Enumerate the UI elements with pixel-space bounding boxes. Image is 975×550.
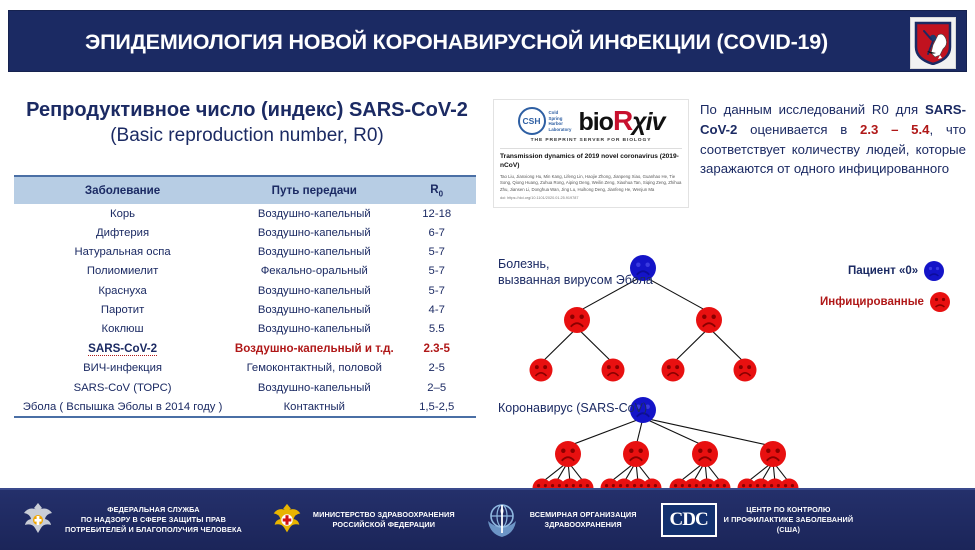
corona-level1-infected-1 bbox=[623, 441, 649, 467]
cell-r0: 5-7 bbox=[397, 243, 476, 262]
cell-route: Воздушно-капельный bbox=[231, 378, 397, 397]
cell-route: Воздушно-капельный bbox=[231, 319, 397, 338]
cell-route: Воздушно-капельный bbox=[231, 281, 397, 300]
minzdrav-eagle-icon bbox=[268, 500, 306, 540]
biorxiv-wordmark: bioRχiv bbox=[578, 107, 664, 135]
cell-r0: 6-7 bbox=[397, 224, 476, 243]
cell-r0: 1,5-2,5 bbox=[397, 397, 476, 417]
slide-footer: ФЕДЕРАЛЬНАЯ СЛУЖБАПО НАДЗОРУ В СФЕРЕ ЗАЩ… bbox=[0, 488, 975, 550]
r0-table: Заболевание Путь передачи R0 КорьВоздушн… bbox=[14, 175, 476, 418]
cell-route: Контактный bbox=[231, 397, 397, 417]
ebola-level2-infected-3 bbox=[734, 359, 757, 382]
cell-disease: Полиомиелит bbox=[14, 262, 231, 281]
cell-r0: 2-5 bbox=[397, 359, 476, 378]
ebola-level1-infected-0 bbox=[564, 307, 590, 333]
rtext-part2: оценивается в bbox=[737, 122, 860, 137]
table-row: ВИЧ-инфекцияГемоконтактный, половой2-5 bbox=[14, 359, 476, 378]
org-minzdrav: МИНИСТЕРСТВО ЗДРАВООХРАНЕНИЯРОССИЙСКОЙ Ф… bbox=[268, 500, 455, 540]
table-row: ПаротитВоздушно-капельный4-7 bbox=[14, 300, 476, 319]
moscow-coat-of-arms-icon bbox=[910, 17, 956, 69]
paper-title: Transmission dynamics of 2019 novel coro… bbox=[500, 153, 682, 170]
cell-route: Гемоконтактный, половой bbox=[231, 359, 397, 378]
cell-route: Воздушно-капельный bbox=[231, 243, 397, 262]
column-header-r0: R0 bbox=[397, 176, 476, 204]
cell-r0: 12-18 bbox=[397, 204, 476, 223]
org-cdc: CDC ЦЕНТР ПО КОНТРОЛЮИ ПРОФИЛАКТИКЕ ЗАБО… bbox=[661, 503, 854, 537]
ebola-level2-infected-0 bbox=[530, 359, 553, 382]
infected-face-icon bbox=[929, 291, 951, 313]
ebola-level1-infected-1 bbox=[696, 307, 722, 333]
legend-patient-zero-label: Пациент «0» bbox=[848, 265, 918, 277]
cell-route: Воздушно-капельный bbox=[231, 300, 397, 319]
cell-r0: 5.5 bbox=[397, 319, 476, 338]
slide-header: ЭПИДЕМИОЛОГИЯ НОВОЙ КОРОНАВИРУСНОЙ ИНФЕК… bbox=[8, 10, 967, 72]
legend-patient-zero: Пациент «0» bbox=[848, 260, 945, 282]
rtext-red-range: 2.3 – 5.4 bbox=[860, 122, 929, 137]
org-minzdrav-label: МИНИСТЕРСТВО ЗДРАВООХРАНЕНИЯРОССИЙСКОЙ Ф… bbox=[313, 510, 455, 530]
cell-route: Фекально-оральный bbox=[231, 262, 397, 281]
slide-root: ЭПИДЕМИОЛОГИЯ НОВОЙ КОРОНАВИРУСНОЙ ИНФЕК… bbox=[0, 0, 975, 550]
cell-disease: SARS-CoV-2 bbox=[14, 339, 231, 359]
cdc-logo-icon: CDC bbox=[661, 503, 717, 537]
page-title: ЭПИДЕМИОЛОГИЯ НОВОЙ КОРОНАВИРУСНОЙ ИНФЕК… bbox=[9, 11, 904, 73]
left-title-line1: Репродуктивное число (индекс) SARS-CoV-2 bbox=[8, 98, 486, 122]
org-rospotrebnadzor: ФЕДЕРАЛЬНАЯ СЛУЖБАПО НАДЗОРУ В СФЕРЕ ЗАЩ… bbox=[18, 499, 242, 541]
legend-infected: Инфицированные bbox=[820, 291, 951, 313]
cell-disease: ВИЧ-инфекция bbox=[14, 359, 231, 378]
cell-disease: SARS-CoV (ТОРС) bbox=[14, 378, 231, 397]
table-header: Заболевание Путь передачи R0 bbox=[14, 176, 476, 204]
table-row: КорьВоздушно-капельный12-18 bbox=[14, 204, 476, 223]
org-cdc-label: ЦЕНТР ПО КОНТРОЛЮИ ПРОФИЛАКТИКЕ ЗАБОЛЕВА… bbox=[724, 505, 854, 535]
paper-authors: Tao Liu, Jianxiong Hu, Min Kang, Lifeng … bbox=[500, 174, 682, 193]
cell-disease: Дифтерия bbox=[14, 224, 231, 243]
column-header-disease: Заболевание bbox=[14, 176, 231, 204]
org-rospotrebnadzor-label: ФЕДЕРАЛЬНАЯ СЛУЖБАПО НАДЗОРУ В СФЕРЕ ЗАЩ… bbox=[65, 505, 242, 535]
cell-disease: Корь bbox=[14, 204, 231, 223]
cell-disease: Эбола ( Вспышка Эболы в 2014 году ) bbox=[14, 397, 231, 417]
table-row: ПолиомиелитФекально-оральный5-7 bbox=[14, 262, 476, 281]
biorxiv-preprint-card: CSH ColdSpringHarborLaboratory bioRχiv T… bbox=[493, 99, 689, 208]
biorxiv-logo-row: CSH ColdSpringHarborLaboratory bioRχiv bbox=[500, 107, 682, 135]
cell-disease: Паротит bbox=[14, 300, 231, 319]
left-panel-title: Репродуктивное число (индекс) SARS-CoV-2… bbox=[8, 98, 486, 148]
cell-r0: 5-7 bbox=[397, 281, 476, 300]
legend-infected-label: Инфицированные bbox=[820, 296, 924, 308]
table-row: КраснухаВоздушно-капельный5-7 bbox=[14, 281, 476, 300]
ebola-level2-infected-1 bbox=[602, 359, 625, 382]
cell-r0: 4-7 bbox=[397, 300, 476, 319]
corona-level1-infected-3 bbox=[760, 441, 786, 467]
patient-zero-face-icon bbox=[923, 260, 945, 282]
transmission-trees: Болезнь, вызванная вирусом Эбола Коронав… bbox=[490, 248, 975, 498]
table-row: КоклюшВоздушно-капельный5.5 bbox=[14, 319, 476, 338]
ebola-label-line1: Болезнь, bbox=[498, 257, 549, 271]
r0-subscript: 0 bbox=[439, 189, 443, 198]
column-header-route: Путь передачи bbox=[231, 176, 397, 204]
biorxiv-tagline: THE PREPRINT SERVER FOR BIOLOGY bbox=[500, 138, 682, 143]
divider bbox=[500, 148, 682, 149]
cell-route: Воздушно-капельный bbox=[231, 224, 397, 243]
paper-doi: doi: https://doi.org/10.1101/2020.01.25.… bbox=[500, 196, 682, 200]
cell-disease: Краснуха bbox=[14, 281, 231, 300]
org-who-label: ВСЕМИРНАЯ ОРГАНИЗАЦИЯЗДРАВООХРАНЕНИЯ bbox=[530, 510, 637, 530]
ebola-label-line2: вызванная вирусом Эбола bbox=[498, 273, 653, 287]
cell-r0: 2–5 bbox=[397, 378, 476, 397]
rtext-part1: По данным исследований R0 для bbox=[700, 102, 925, 117]
corona-tree-label: Коронавирус (SARS-CoV) bbox=[498, 400, 647, 416]
table-row: SARS-CoV-2Воздушно-капельный и т.д.2.3-5 bbox=[14, 339, 476, 359]
cell-disease: Натуральная оспа bbox=[14, 243, 231, 262]
cell-route: Воздушно-капельный bbox=[231, 204, 397, 223]
cshl-logo-icon: CSH ColdSpringHarborLaboratory bbox=[518, 107, 572, 135]
russian-eagle-icon bbox=[18, 499, 58, 541]
cell-route: Воздушно-капельный и т.д. bbox=[231, 339, 397, 359]
table-row: ДифтерияВоздушно-капельный6-7 bbox=[14, 224, 476, 243]
table-row: Натуральная оспаВоздушно-капельный5-7 bbox=[14, 243, 476, 262]
table-row: SARS-CoV (ТОРС)Воздушно-капельный2–5 bbox=[14, 378, 476, 397]
cell-disease: Коклюш bbox=[14, 319, 231, 338]
cell-r0: 2.3-5 bbox=[397, 339, 476, 359]
r0-explanation-text: По данным исследований R0 для SARS-CoV-2… bbox=[700, 100, 966, 179]
cell-r0: 5-7 bbox=[397, 262, 476, 281]
left-title-line2: (Basic reproduction number, R0) bbox=[8, 124, 486, 147]
corona-level1-infected-0 bbox=[555, 441, 581, 467]
org-who: ВСЕМИРНАЯ ОРГАНИЗАЦИЯЗДРАВООХРАНЕНИЯ bbox=[481, 499, 637, 541]
ebola-tree-label: Болезнь, вызванная вирусом Эбола bbox=[498, 256, 653, 289]
cshl-initials: CSH bbox=[518, 107, 546, 135]
cshl-label: ColdSpringHarborLaboratory bbox=[549, 110, 572, 132]
who-emblem-icon bbox=[481, 499, 523, 541]
ebola-level2-infected-2 bbox=[662, 359, 685, 382]
table-row: Эбола ( Вспышка Эболы в 2014 году )Конта… bbox=[14, 397, 476, 417]
table-body: КорьВоздушно-капельный12-18ДифтерияВозду… bbox=[14, 204, 476, 417]
corona-level1-infected-2 bbox=[692, 441, 718, 467]
